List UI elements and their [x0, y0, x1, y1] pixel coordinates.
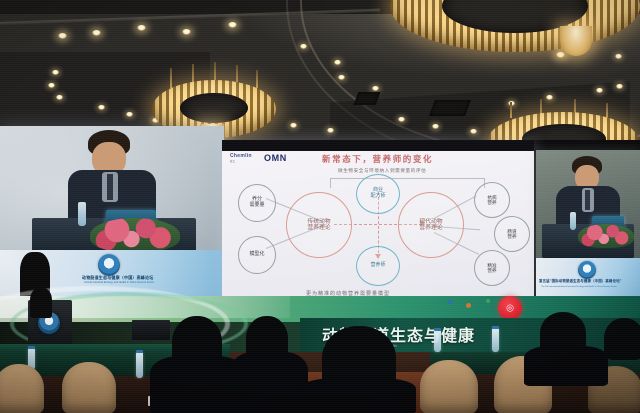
- node-nutritionist-line1: 营养师: [370, 263, 385, 269]
- node-modern-line2: 营养理论: [419, 225, 442, 231]
- node-nutrient-requirement-line2: 需要量: [249, 203, 264, 209]
- gold-ring-chandelier: [488, 112, 638, 140]
- node-nutritionist: 营养师: [356, 246, 400, 286]
- backdrop-dot: [486, 299, 490, 303]
- node-modeling-line1: 模型化: [249, 252, 264, 258]
- water-bottle: [78, 202, 86, 226]
- water-bottle: [136, 352, 143, 378]
- water-bottle: [492, 328, 499, 352]
- attendee-silhouette: [300, 378, 416, 413]
- node-modern-nutrition-theory: 现代动物 营养理论: [398, 192, 464, 258]
- speaker-at-lectern: [30, 288, 52, 318]
- node-disease-line2: 营养: [487, 200, 496, 205]
- left-projection-screen: 动物肠道生态与健康（中国）高峰论坛 Animal Intestinal Ecol…: [0, 126, 224, 298]
- conference-hall-photo: 动物肠道生态与健康（中国）高峰论坛 Animal Intestinal Ecol…: [0, 0, 640, 413]
- bottle-cap: [28, 346, 35, 349]
- logo-chemlin-sub: 化工: [230, 159, 252, 163]
- backdrop-dot: [448, 300, 452, 304]
- slide-title: 新常态下，营养师的变化: [322, 153, 433, 165]
- red-circle-logo: ◎: [498, 296, 522, 320]
- node-precision-nutrition: 精准 营养: [474, 250, 510, 286]
- gold-ring-chandelier: [390, 0, 640, 52]
- logo-chemlin: Chemlin 化工: [230, 153, 252, 163]
- forum-emblem: [578, 261, 596, 279]
- node-traditional-nutrition-theory: 传统动物 营养理论: [286, 192, 352, 258]
- attendee-silhouette: [524, 346, 608, 386]
- conference-chair: [420, 360, 478, 413]
- bottle-cap: [136, 350, 143, 353]
- conference-chair: [0, 364, 44, 413]
- flower-arrangement: [90, 218, 180, 252]
- attendee-silhouette: [230, 352, 308, 413]
- node-modeling: 模型化: [238, 236, 276, 274]
- conference-chair: [62, 362, 116, 413]
- slide-top-shadow: [222, 140, 534, 151]
- node-traditional-line2: 营养理论: [307, 225, 330, 231]
- red-logo-glyph: ◎: [506, 303, 514, 314]
- right-projection-screen: 第五届"国际动物肠道生态与健康（中国）高峰论坛" The 5th Interna…: [536, 150, 640, 298]
- bottle-cap: [434, 328, 441, 331]
- backdrop-dot: [466, 303, 471, 308]
- bottle-cap: [492, 326, 499, 329]
- laptop: [132, 320, 170, 340]
- screen-stage-banner: 第五届"国际动物肠道生态与健康（中国）高峰论坛" The 5th Interna…: [536, 258, 640, 298]
- logo-omn: OMN: [264, 153, 287, 163]
- slide-subtitle: 微生物安全与环境纳入到需要量的评估: [338, 168, 426, 174]
- ceiling: [0, 0, 640, 140]
- water-bottle: [570, 212, 576, 230]
- node-disease-resistant-nutrition: 抗病 营养: [474, 182, 510, 218]
- presentation-slide: Chemlin 化工 OMN 新常态下，营养师的变化 微生物安全与环境纳入到需要…: [222, 140, 534, 305]
- forum-emblem: [98, 254, 120, 276]
- right-screen-banner-title: 第五届"国际动物肠道生态与健康（中国）高峰论坛": [539, 280, 622, 284]
- node-commercial-formulator: 商业 配方师: [356, 174, 400, 214]
- node-gut-line2: 营养: [507, 234, 516, 239]
- node-commercial-line2: 配方师: [370, 194, 385, 200]
- left-screen-banner-title: 动物肠道生态与健康（中国）高峰论坛: [82, 276, 153, 281]
- water-bottle: [434, 330, 441, 352]
- attendee-silhouette: [604, 318, 640, 360]
- node-precision-line2: 营养: [487, 268, 496, 273]
- right-screen-banner-subtitle: The 5th International Animal Intestinal …: [541, 286, 617, 288]
- node-nutrient-requirement: 养分 需要量: [238, 184, 276, 222]
- node-gut-nutrition: 肠道 营养: [494, 216, 530, 252]
- flower-arrangement: [578, 224, 634, 248]
- left-screen-banner-subtitle: Animal Intestinal Ecology and Health in …: [84, 282, 154, 285]
